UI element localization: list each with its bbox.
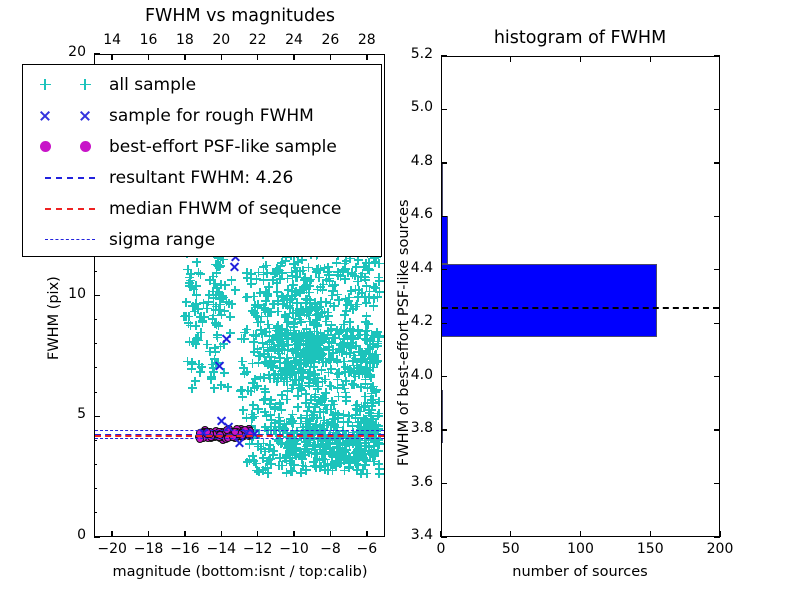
ytick-left-minor <box>94 271 97 272</box>
hist-xtick <box>580 531 581 537</box>
scatter-point-all <box>325 355 334 364</box>
scatter-point-all <box>198 316 207 325</box>
scatter-point-rough <box>229 261 240 272</box>
scatter-point-all <box>263 469 272 478</box>
left-xaxis-label: magnitude (bottom:isnt / top:calib) <box>112 564 367 580</box>
xtick-bottom-label: −6 <box>356 541 377 557</box>
legend-item[interactable]: resultant FWHM: 4.26 <box>23 162 381 193</box>
hist-ytick-right <box>714 269 720 270</box>
scatter-point-all <box>323 308 332 317</box>
dash-dot-line <box>45 239 95 240</box>
hist-ytick-label: 4.4 <box>411 260 433 276</box>
scatter-point-all <box>285 371 294 380</box>
xtick-top <box>111 54 112 60</box>
hist-xtick-label: 0 <box>437 541 446 557</box>
ytick-left <box>94 416 100 417</box>
hist-ytick-right <box>714 162 720 163</box>
scatter-point-all <box>293 257 302 266</box>
hist-xtick <box>650 531 651 537</box>
hist-ytick <box>441 429 447 430</box>
hist-xtick-label: 100 <box>567 541 594 557</box>
legend-item-label: best-effort PSF-like sample <box>109 137 337 157</box>
scatter-point-all <box>286 459 295 468</box>
scatter-point-all <box>227 300 236 309</box>
scatter-point-all <box>253 303 262 312</box>
xtick-top-label: 28 <box>358 32 376 48</box>
scatter-point-all <box>286 414 295 423</box>
scatter-point-all <box>223 383 232 392</box>
scatter-point-all <box>357 469 366 478</box>
hist-ytick <box>441 483 447 484</box>
hist-ytick-label: 4.2 <box>411 313 433 329</box>
ytick-left <box>94 536 100 537</box>
xtick-bottom-label: −18 <box>134 541 164 557</box>
scatter-point-all <box>192 334 201 343</box>
scatter-point-all <box>366 383 375 392</box>
scatter-point-all <box>361 318 370 327</box>
legend-item-label: sample for rough FWHM <box>109 106 314 126</box>
scatter-point-all <box>267 353 276 362</box>
scatter-point-all <box>294 364 303 373</box>
hist-ytick <box>441 269 447 270</box>
scatter-point-all <box>280 342 289 351</box>
circle-marker <box>80 141 91 152</box>
scatter-point-all <box>339 456 348 465</box>
histogram-bar <box>442 264 657 336</box>
xtick-top <box>148 54 149 60</box>
scatter-point-all <box>284 357 293 366</box>
scatter-point-all <box>217 310 226 319</box>
ytick-left-minor <box>94 512 97 513</box>
scatter-point-all <box>275 363 284 372</box>
scatter-point-all <box>328 282 337 291</box>
scatter-point-all <box>251 311 260 320</box>
legend-item[interactable]: median FHWM of sequence <box>23 193 381 224</box>
xtick-bottom <box>184 531 185 537</box>
scatter-point-all <box>354 448 363 457</box>
histogram-data-area <box>442 57 719 536</box>
scatter-point-all <box>231 286 240 295</box>
scatter-point-all <box>263 292 272 301</box>
scatter-point-rough <box>214 360 225 371</box>
plus-marker <box>80 79 91 90</box>
histogram-bar <box>442 390 443 443</box>
legend-item-label: median FHWM of sequence <box>109 199 341 219</box>
scatter-point-all <box>310 333 319 342</box>
scatter-point-all <box>192 258 201 267</box>
scatter-point-all <box>294 335 303 344</box>
scatter-point-all <box>332 369 341 378</box>
scatter-point-all <box>292 287 301 296</box>
ytick-left-label: 10 <box>68 286 86 302</box>
scatter-point-all <box>246 387 255 396</box>
hist-xtick <box>510 531 511 537</box>
scatter-point-rough <box>221 333 232 344</box>
scatter-point-all <box>196 270 205 279</box>
xtick-top-label: 24 <box>285 32 303 48</box>
right-panel-title: histogram of FWHM <box>494 28 666 48</box>
scatter-point-all <box>349 369 358 378</box>
xtick-bottom-label: −16 <box>170 541 200 557</box>
histogram-bar <box>442 216 448 264</box>
scatter-point-all <box>297 386 306 395</box>
scatter-point-all <box>370 451 379 460</box>
scatter-point-all <box>265 374 274 383</box>
scatter-point-all <box>333 384 342 393</box>
xtick-top <box>184 54 185 60</box>
left-panel-title: FWHM vs magnitudes <box>145 6 335 26</box>
legend-item[interactable]: sample for rough FWHM <box>23 100 381 131</box>
cross-marker <box>79 110 91 122</box>
scatter-point-all <box>239 364 248 373</box>
annotation-line-median-fhwm-of-sequence <box>95 435 384 437</box>
xtick-bottom-label: −10 <box>279 541 309 557</box>
ytick-left-minor <box>94 319 97 320</box>
xtick-bottom <box>148 531 149 537</box>
scatter-point-all <box>273 323 282 332</box>
xtick-bottom-label: −14 <box>207 541 237 557</box>
scatter-point-all <box>255 352 264 361</box>
xtick-top <box>330 54 331 60</box>
figure-canvas: FWHM vs magnitudes magnitude (bottom:isn… <box>0 0 800 600</box>
legend-item-label: sigma range <box>109 230 215 250</box>
hist-ytick-right <box>714 483 720 484</box>
hist-xtick-label: 150 <box>637 541 664 557</box>
xtick-top-label: 22 <box>249 32 267 48</box>
plus-marker <box>40 79 51 90</box>
scatter-point-all <box>363 335 372 344</box>
scatter-point-all <box>269 300 278 309</box>
hist-ytick <box>441 323 447 324</box>
scatter-point-all <box>322 298 331 307</box>
scatter-point-all <box>283 326 292 335</box>
legend-item-label: resultant FWHM: 4.26 <box>109 168 293 188</box>
scatter-point-all <box>210 344 219 353</box>
scatter-point-all <box>236 386 245 395</box>
scatter-point-all <box>313 265 322 274</box>
xtick-top <box>221 54 222 60</box>
scatter-point-all <box>329 449 338 458</box>
scatter-point-all <box>295 353 304 362</box>
scatter-point-all <box>259 276 268 285</box>
scatter-point-all <box>294 376 303 385</box>
right-xaxis-label: number of sources <box>512 564 648 580</box>
legend-item[interactable]: best-effort PSF-like sample <box>23 131 381 162</box>
hist-ytick-right <box>714 109 720 110</box>
hist-ytick <box>441 536 447 537</box>
hist-ytick-label: 5.0 <box>411 99 433 115</box>
scatter-point-all <box>313 285 322 294</box>
xtick-top <box>293 54 294 60</box>
xtick-top <box>257 54 258 60</box>
xtick-bottom-label: −12 <box>243 541 273 557</box>
xtick-bottom <box>293 531 294 537</box>
scatter-point-all <box>275 413 284 422</box>
scatter-point-all <box>243 458 252 467</box>
scatter-point-all <box>354 331 363 340</box>
scatter-point-all <box>239 406 248 415</box>
scatter-point-all <box>252 466 261 475</box>
ytick-left-minor <box>94 343 97 344</box>
scatter-point-all <box>254 405 263 414</box>
scatter-point-all <box>342 396 351 405</box>
ytick-left <box>94 295 100 296</box>
hist-ytick-right <box>714 429 720 430</box>
scatter-point-all <box>249 330 258 339</box>
scatter-point-all <box>369 302 378 311</box>
legend-item[interactable]: all sample <box>23 69 381 100</box>
scatter-point-all <box>304 263 313 272</box>
xtick-bottom <box>111 531 112 537</box>
scatter-point-all <box>331 462 340 471</box>
scatter-point-all <box>375 465 384 474</box>
dashed-line <box>45 177 95 179</box>
ytick-left-label: 5 <box>77 406 86 422</box>
scatter-point-rough <box>223 422 234 433</box>
cross-marker <box>39 110 51 122</box>
scatter-point-all <box>280 295 289 304</box>
hist-xtick-label: 50 <box>502 541 520 557</box>
hist-ytick-label: 5.2 <box>411 46 433 62</box>
scatter-point-all <box>287 268 296 277</box>
scatter-point-all <box>276 261 285 270</box>
scatter-point-all <box>237 334 246 343</box>
scatter-point-all <box>369 294 378 303</box>
scatter-point-all <box>301 273 310 282</box>
scatter-point-all <box>306 353 315 362</box>
hist-ytick-label: 4.8 <box>411 153 433 169</box>
hist-ytick-label: 4.6 <box>411 206 433 222</box>
scatter-point-all <box>371 283 380 292</box>
scatter-point-all <box>264 307 273 316</box>
scatter-point-all <box>216 261 225 270</box>
scatter-point-all <box>191 377 200 386</box>
scatter-point-all <box>265 337 274 346</box>
histogram-bar <box>442 163 443 216</box>
scatter-point-all <box>199 299 208 308</box>
scatter-point-all <box>323 405 332 414</box>
annotation-line-sigma-range-lower <box>95 438 384 439</box>
xtick-top-label: 18 <box>176 32 194 48</box>
hist-ytick <box>441 109 447 110</box>
hist-ytick-label: 3.4 <box>411 527 433 543</box>
circle-marker <box>40 141 51 152</box>
hist-ytick-right <box>714 55 720 56</box>
scatter-point-all <box>330 421 339 430</box>
xtick-bottom <box>366 531 367 537</box>
xtick-top-label: 16 <box>140 32 158 48</box>
scatter-point-all <box>361 275 370 284</box>
scatter-point-all <box>188 281 197 290</box>
right-yaxis-label: FWHM of best-effort PSF-like sources <box>396 199 412 466</box>
scatter-point-all <box>186 270 195 279</box>
scatter-point-all <box>363 420 372 429</box>
scatter-point-all <box>313 320 322 329</box>
xtick-bottom-label: −8 <box>320 541 341 557</box>
hist-ytick-right <box>714 536 720 537</box>
ytick-left-label: 0 <box>77 527 86 543</box>
hist-ytick-label: 3.8 <box>411 420 433 436</box>
scatter-point-all <box>363 366 372 375</box>
hist-ytick-right <box>714 376 720 377</box>
hist-xtick-top <box>650 56 651 62</box>
xtick-top <box>366 54 367 60</box>
scatter-point-all <box>325 267 334 276</box>
scatter-point-all <box>275 461 284 470</box>
scatter-point-all <box>227 276 236 285</box>
hist-ytick-right <box>714 323 720 324</box>
hist-ytick <box>441 55 447 56</box>
histogram-annotation-line <box>442 307 719 309</box>
scatter-point-all <box>307 303 316 312</box>
scatter-point-all <box>182 298 191 307</box>
scatter-point-all <box>205 276 214 285</box>
scatter-point-all <box>362 259 371 268</box>
legend-box: all samplesample for rough FWHMbest-effo… <box>22 64 382 257</box>
legend-item-label: all sample <box>109 75 196 95</box>
xtick-top-label: 14 <box>103 32 121 48</box>
scatter-point-all <box>327 321 336 330</box>
scatter-point-all <box>301 399 310 408</box>
xtick-top-label: 26 <box>322 32 340 48</box>
scatter-point-all <box>269 451 278 460</box>
scatter-point-all <box>340 259 349 268</box>
scatter-point-all <box>311 448 320 457</box>
scatter-point-all <box>312 342 321 351</box>
hist-xtick-label: 200 <box>707 541 734 557</box>
xtick-bottom <box>257 531 258 537</box>
hist-ytick <box>441 376 447 377</box>
xtick-bottom <box>221 531 222 537</box>
xtick-bottom-label: −20 <box>97 541 127 557</box>
scatter-point-all <box>364 344 373 353</box>
left-yaxis-label: FWHM (pix) <box>46 276 62 360</box>
annotation-line-sigma-range-upper <box>95 430 384 431</box>
scatter-point-all <box>369 395 378 404</box>
hist-xtick-top <box>580 56 581 62</box>
scatter-point-all <box>350 380 359 389</box>
hist-ytick-label: 4.0 <box>411 367 433 383</box>
scatter-point-all <box>341 275 350 284</box>
xtick-bottom <box>330 531 331 537</box>
dashed-line <box>45 208 95 210</box>
scatter-point-all <box>210 384 219 393</box>
hist-ytick <box>441 216 447 217</box>
scatter-point-all <box>339 338 348 347</box>
scatter-point-all <box>351 354 360 363</box>
ytick-left-minor <box>94 367 97 368</box>
legend-item[interactable]: sigma range <box>23 224 381 255</box>
scatter-point-all <box>349 305 358 314</box>
scatter-point-all <box>215 289 224 298</box>
scatter-point-all <box>298 461 307 470</box>
scatter-point-all <box>270 403 279 412</box>
ytick-left-minor <box>94 464 97 465</box>
ytick-left-minor <box>94 440 97 441</box>
scatter-point-all <box>311 370 320 379</box>
scatter-point-all <box>247 269 256 278</box>
scatter-point-all <box>351 410 360 419</box>
ytick-left-label: 20 <box>68 44 86 60</box>
hist-ytick-label: 3.6 <box>411 474 433 490</box>
scatter-point-all <box>290 450 299 459</box>
ytick-left <box>94 53 100 54</box>
hist-ytick-right <box>714 216 720 217</box>
scatter-point-all <box>181 312 190 321</box>
scatter-point-all <box>251 375 260 384</box>
scatter-point-all <box>302 285 311 294</box>
hist-ytick <box>441 162 447 163</box>
scatter-point-all <box>298 423 307 432</box>
hist-xtick-top <box>510 56 511 62</box>
scatter-point-all <box>365 406 374 415</box>
scatter-point-all <box>288 467 297 476</box>
scatter-point-all <box>291 314 300 323</box>
scatter-point-all <box>310 461 319 470</box>
scatter-point-all <box>196 368 205 377</box>
xtick-top-label: 20 <box>212 32 230 48</box>
ytick-left-minor <box>94 392 97 393</box>
scatter-point-all <box>242 293 251 302</box>
scatter-point-all <box>183 357 192 366</box>
scatter-point-all <box>297 304 306 313</box>
scatter-point-all <box>374 273 383 282</box>
scatter-point-all <box>212 320 221 329</box>
ytick-left-minor <box>94 488 97 489</box>
